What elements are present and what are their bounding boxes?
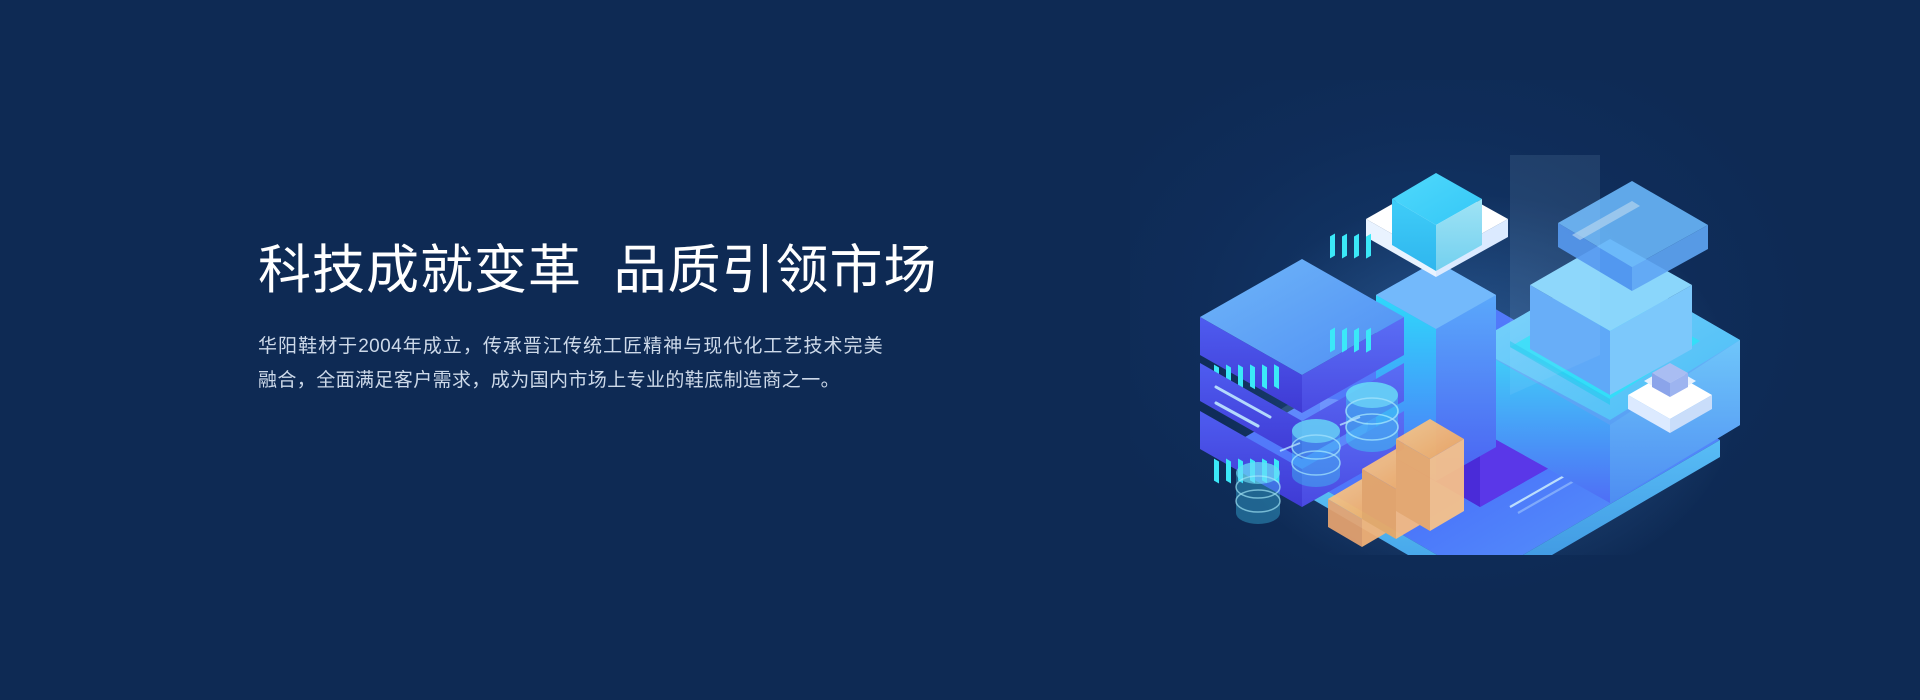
- glass-panel: [1510, 155, 1600, 395]
- bar-3: [1396, 419, 1464, 531]
- hero-description: 华阳鞋材于2004年成立，传承晋江传统工匠精神与现代化工艺技术完美融合，全面满足…: [258, 330, 883, 397]
- hero-banner: 科技成就变革 品质引领市场 华阳鞋材于2004年成立，传承晋江传统工匠精神与现代…: [0, 0, 1920, 700]
- page-title: 科技成就变革 品质引领市场: [258, 238, 1018, 304]
- hero-copy: 科技成就变革 品质引领市场 华阳鞋材于2004年成立，传承晋江传统工匠精神与现代…: [258, 238, 1018, 397]
- isometric-city-illustration: [1180, 95, 1740, 555]
- silo-back: [1346, 382, 1398, 452]
- silo-mid: [1292, 419, 1340, 487]
- silo-front: [1236, 462, 1280, 524]
